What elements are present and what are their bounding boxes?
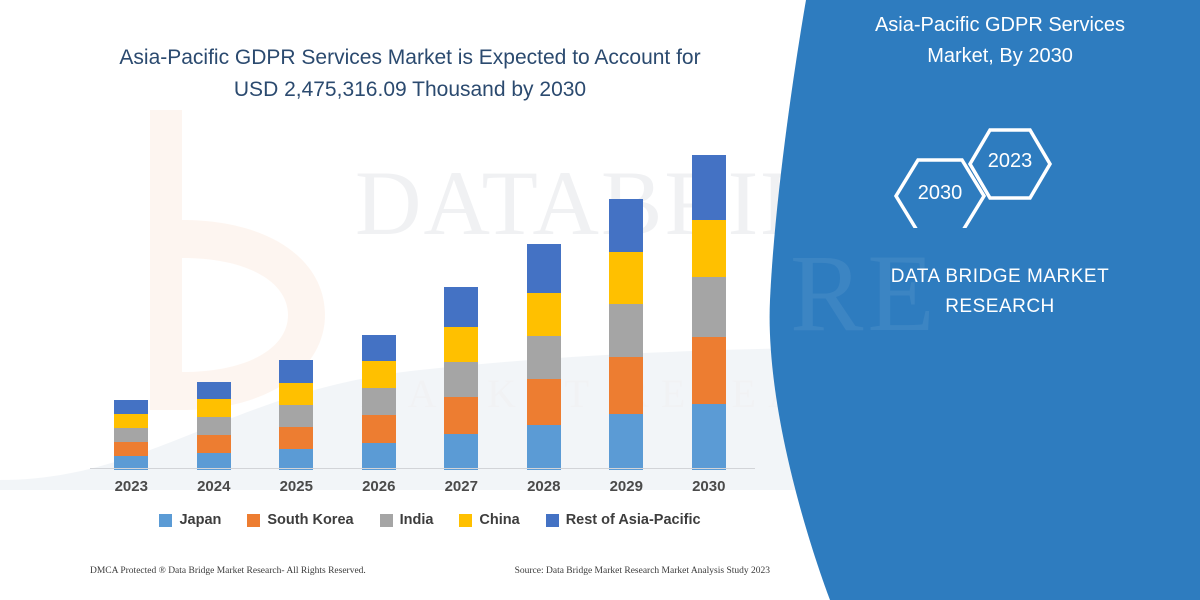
legend-swatch-icon <box>247 514 260 527</box>
panel-title-line2: Market, By 2030 <box>820 41 1180 72</box>
bar-segment-japan <box>444 434 478 470</box>
legend-swatch-icon <box>159 514 172 527</box>
bar-segment-india <box>692 277 726 337</box>
x-axis-label-2030: 2030 <box>669 478 749 495</box>
bar-segment-rest-of-asia-pacific <box>609 199 643 252</box>
bar-segment-india <box>362 388 396 415</box>
bar-segment-japan <box>692 404 726 470</box>
bar-segment-japan <box>609 414 643 470</box>
bar-segment-rest-of-asia-pacific <box>692 155 726 220</box>
brand-panel-content: RE Asia-Pacific GDPR Services Market, By… <box>800 0 1200 600</box>
bar-segment-china <box>609 252 643 304</box>
bar-2025[interactable] <box>279 360 313 470</box>
bar-segment-rest-of-asia-pacific <box>527 244 561 293</box>
panel-title: Asia-Pacific GDPR Services Market, By 20… <box>820 10 1180 72</box>
bar-segment-india <box>527 336 561 379</box>
legend-label: Rest of Asia-Pacific <box>566 512 701 528</box>
bar-segment-rest-of-asia-pacific <box>362 335 396 361</box>
bar-segment-china <box>444 327 478 362</box>
bar-segment-india <box>279 405 313 427</box>
legend-swatch-icon <box>380 514 393 527</box>
bar-2029[interactable] <box>609 199 643 470</box>
bar-segment-south-korea <box>362 415 396 443</box>
legend-item-south-korea[interactable]: South Korea <box>247 512 353 528</box>
x-axis-labels: 20232024202520262027202820292030 <box>90 478 750 502</box>
hexagon-year-badges: 2023 2030 <box>870 118 1150 228</box>
bar-segment-india <box>114 428 148 442</box>
bar-segment-south-korea <box>114 442 148 456</box>
bar-segment-china <box>527 293 561 336</box>
bar-2026[interactable] <box>362 335 396 470</box>
legend-swatch-icon <box>546 514 559 527</box>
legend-item-rest-of-asia-pacific[interactable]: Rest of Asia-Pacific <box>546 512 701 528</box>
bar-segment-japan <box>527 425 561 470</box>
bar-segment-india <box>444 362 478 397</box>
x-axis-label-2025: 2025 <box>256 478 336 495</box>
x-axis-label-2028: 2028 <box>504 478 584 495</box>
legend-label: Japan <box>179 512 221 528</box>
hexagon-shapes-icon <box>870 118 1150 228</box>
legend-label: China <box>479 512 519 528</box>
bar-segment-china <box>279 383 313 405</box>
bar-segment-south-korea <box>279 427 313 449</box>
page-title-line2: USD 2,475,316.09 Thousand by 2030 <box>60 74 760 106</box>
footer-copyright: DMCA Protected ® Data Bridge Market Rese… <box>90 566 366 576</box>
bar-segment-india <box>197 417 231 435</box>
bar-segment-rest-of-asia-pacific <box>114 400 148 414</box>
bar-2030[interactable] <box>692 155 726 470</box>
footer-source: Source: Data Bridge Market Research Mark… <box>515 566 770 576</box>
legend-label: South Korea <box>267 512 353 528</box>
infographic-canvas: DATABRIDGE MARKET RESEARCH Asia-Pacific … <box>0 0 1200 600</box>
panel-title-line1: Asia-Pacific GDPR Services <box>820 10 1180 41</box>
bar-segment-rest-of-asia-pacific <box>279 360 313 383</box>
bar-2024[interactable] <box>197 382 231 470</box>
bar-segment-south-korea <box>444 397 478 434</box>
hex-label-2023: 2023 <box>965 150 1055 173</box>
chart-legend: JapanSouth KoreaIndiaChinaRest of Asia-P… <box>90 512 770 528</box>
page-title-line1: Asia-Pacific GDPR Services Market is Exp… <box>60 42 760 74</box>
brand-line1: DATA BRIDGE MARKET <box>820 262 1180 292</box>
bar-segment-japan <box>362 443 396 470</box>
x-axis-line <box>90 468 755 469</box>
bar-segment-japan <box>279 449 313 470</box>
page-title: Asia-Pacific GDPR Services Market is Exp… <box>60 42 760 106</box>
bar-segment-south-korea <box>692 337 726 404</box>
hex-label-2030: 2030 <box>895 182 985 205</box>
legend-label: India <box>400 512 434 528</box>
bar-segment-india <box>609 304 643 357</box>
brand-line2: RESEARCH <box>820 292 1180 322</box>
bar-segment-china <box>114 414 148 428</box>
stacked-bar-chart <box>90 140 750 470</box>
legend-item-china[interactable]: China <box>459 512 519 528</box>
x-axis-label-2023: 2023 <box>91 478 171 495</box>
footer: DMCA Protected ® Data Bridge Market Rese… <box>90 566 770 576</box>
bar-segment-china <box>362 361 396 388</box>
bar-segment-south-korea <box>609 357 643 414</box>
bar-segment-rest-of-asia-pacific <box>444 287 478 327</box>
bar-segment-south-korea <box>527 379 561 425</box>
x-axis-label-2026: 2026 <box>339 478 419 495</box>
legend-item-india[interactable]: India <box>380 512 434 528</box>
bar-segment-south-korea <box>197 435 231 453</box>
legend-item-japan[interactable]: Japan <box>159 512 221 528</box>
legend-swatch-icon <box>459 514 472 527</box>
x-axis-label-2029: 2029 <box>586 478 666 495</box>
bar-2023[interactable] <box>114 400 148 470</box>
bar-segment-china <box>197 399 231 417</box>
bar-segment-rest-of-asia-pacific <box>197 382 231 399</box>
bar-2027[interactable] <box>444 287 478 470</box>
bar-2028[interactable] <box>527 244 561 470</box>
brand-name: DATA BRIDGE MARKET RESEARCH <box>820 262 1180 322</box>
x-axis-label-2024: 2024 <box>174 478 254 495</box>
x-axis-label-2027: 2027 <box>421 478 501 495</box>
bar-segment-china <box>692 220 726 277</box>
